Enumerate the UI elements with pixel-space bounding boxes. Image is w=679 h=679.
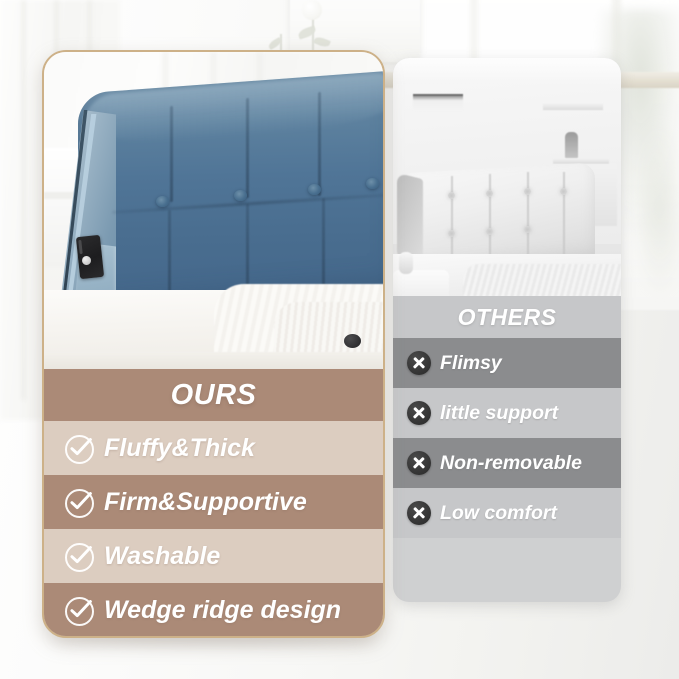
- others-row: little support: [393, 388, 621, 438]
- small-lamp: [399, 252, 413, 274]
- pillow-button: [366, 178, 379, 189]
- check-circle-icon: [64, 434, 93, 463]
- ours-card: OURS Fluffy&Thick Firm: [42, 50, 385, 638]
- pillow-seam: [563, 172, 565, 256]
- ours-row: Fluffy&Thick: [44, 421, 383, 475]
- pillow-button: [156, 196, 169, 207]
- x-circle-icon: [407, 351, 431, 375]
- others-row-label: Flimsy: [440, 352, 502, 375]
- pillow-tuft: [524, 188, 531, 195]
- ours-row-label: Firm&Supportive: [104, 488, 307, 517]
- others-product-photo: [393, 58, 621, 296]
- ours-feature-list: Fluffy&Thick Firm&Supportive: [44, 421, 383, 637]
- others-row-label: Low comfort: [440, 502, 557, 525]
- bed-frame: [44, 352, 383, 369]
- check-circle-icon: [64, 542, 93, 571]
- pillow-seam: [170, 106, 173, 202]
- ours-row-label: Washable: [104, 542, 220, 571]
- others-row: Non-removable: [393, 438, 621, 488]
- ours-row: Wedge ridge design: [44, 583, 383, 637]
- others-drawback-list: Flimsy little support Non-removable Low …: [393, 338, 621, 538]
- nightstand: [393, 270, 449, 296]
- ours-row: Washable: [44, 529, 383, 583]
- pillow-tuft: [448, 192, 455, 199]
- pillow-button: [308, 184, 321, 195]
- knit-throw: [463, 264, 621, 296]
- others-row-label: little support: [440, 402, 558, 425]
- others-row: Low comfort: [393, 488, 621, 538]
- check-circle-icon: [64, 596, 93, 625]
- ours-row-label: Wedge ridge design: [104, 596, 341, 625]
- others-header-label: OTHERS: [458, 304, 557, 331]
- pillow-seam: [318, 92, 321, 196]
- pillow-button: [234, 190, 247, 201]
- ours-row: Firm&Supportive: [44, 475, 383, 529]
- x-circle-icon: [407, 501, 431, 525]
- ours-product-photo: [44, 52, 383, 369]
- pillow-seam: [451, 176, 453, 262]
- ours-header: OURS: [44, 369, 383, 421]
- pillow-tuft: [524, 226, 531, 233]
- shelf: [543, 102, 603, 110]
- curtain-fold: [22, 0, 25, 400]
- foliage: [630, 120, 679, 300]
- pillow-seam: [527, 172, 529, 260]
- pillow-tuft: [560, 188, 567, 195]
- x-circle-icon: [407, 401, 431, 425]
- x-circle-icon: [407, 451, 431, 475]
- flower-head: [302, 0, 322, 20]
- others-header: OTHERS: [393, 296, 621, 338]
- others-pillow-side: [397, 173, 423, 265]
- pillow-tuft: [486, 190, 493, 197]
- pillow-seam: [246, 98, 249, 198]
- pillow-seam: [489, 174, 491, 262]
- check-circle-icon: [64, 488, 93, 517]
- pillow-tuft: [486, 228, 493, 235]
- bed-knob: [344, 334, 361, 348]
- others-row-label: Non-removable: [440, 452, 582, 475]
- others-panel: OTHERS Flimsy little support Non-removab…: [393, 58, 621, 602]
- ours-header-label: OURS: [171, 379, 257, 412]
- wall-frame: [413, 94, 463, 111]
- vase: [565, 132, 578, 160]
- infographic-stage: OTHERS Flimsy little support Non-removab…: [0, 0, 679, 679]
- pillow-tuft: [448, 230, 455, 237]
- ours-row-label: Fluffy&Thick: [104, 434, 255, 463]
- others-row: Flimsy: [393, 338, 621, 388]
